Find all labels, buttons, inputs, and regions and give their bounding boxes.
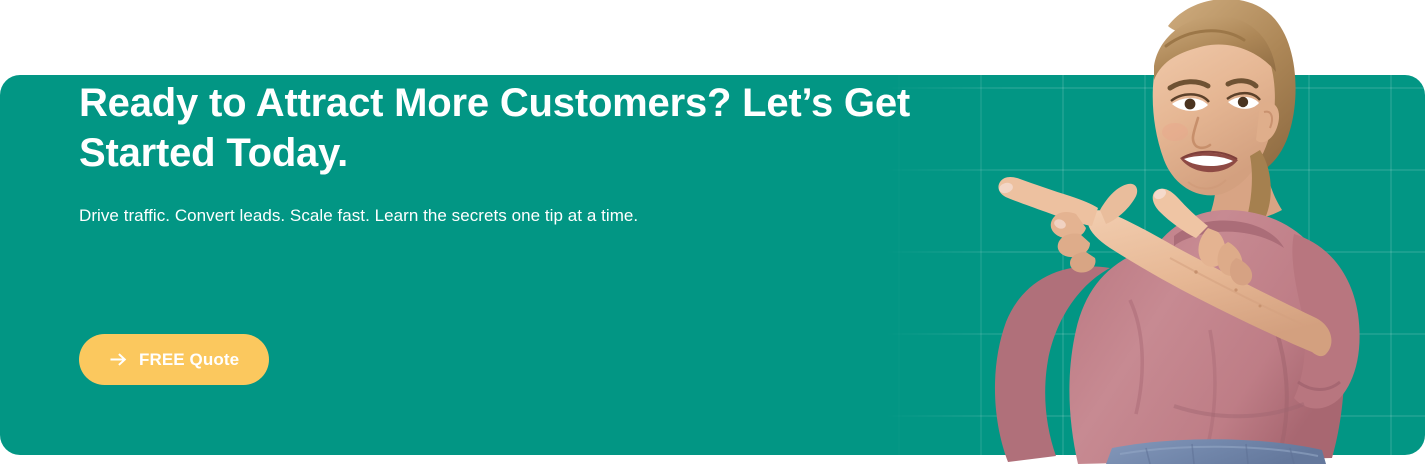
- pointing-woman-photo: [960, 0, 1425, 464]
- free-quote-button[interactable]: FREE Quote: [79, 334, 269, 385]
- subheadline: Drive traffic. Convert leads. Scale fast…: [79, 204, 919, 228]
- page-title: Ready to Attract More Customers? Let’s G…: [79, 78, 919, 178]
- arrow-right-icon: [109, 350, 128, 369]
- cta-copy-block: Ready to Attract More Customers? Let’s G…: [79, 78, 919, 228]
- free-quote-button-label: FREE Quote: [139, 350, 239, 370]
- cta-banner-section: Ready to Attract More Customers? Let’s G…: [0, 0, 1425, 464]
